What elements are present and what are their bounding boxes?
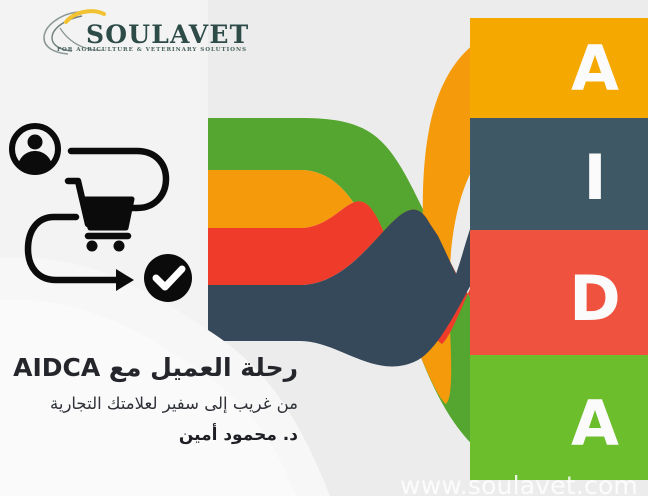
left-band-green <box>208 118 304 170</box>
check-circle-icon <box>144 254 192 302</box>
left-band-slate <box>208 285 304 341</box>
poster-text-block: رحلة العميل مع AIDCA من غريب إلى سفير لع… <box>0 352 320 445</box>
person-avatar-icon <box>12 126 58 172</box>
aida-letter-0: A <box>571 32 619 105</box>
page-title: رحلة العميل مع AIDCA <box>0 352 320 383</box>
poster-canvas: A I D A SOULAVET FOR AGRICULTURE & VETER… <box>0 0 648 496</box>
right-band-amber <box>470 18 648 118</box>
left-band-orange <box>208 170 304 228</box>
logo-wordmark: SOULAVET <box>86 22 249 47</box>
aida-letter-3: A <box>571 387 619 460</box>
logo-tagline: FOR AGRICULTURE & VETERINARY SOLUTIONS <box>57 47 247 53</box>
aida-letter-2: D <box>569 262 620 335</box>
poster-author: د. محمود أمين <box>0 425 320 445</box>
customer-journey-icon <box>4 116 208 306</box>
right-band-coral <box>470 230 648 355</box>
left-band-red <box>208 228 304 285</box>
poster-subtitle: من غريب إلى سفير لعلامتك التجارية <box>48 392 320 416</box>
arrow-head-icon <box>116 269 134 291</box>
right-band-green <box>470 355 648 480</box>
right-band-slate <box>470 118 648 230</box>
aida-letter-1: I <box>583 141 606 214</box>
soulavet-logo: SOULAVET FOR AGRICULTURE & VETERINARY SO… <box>30 6 210 58</box>
